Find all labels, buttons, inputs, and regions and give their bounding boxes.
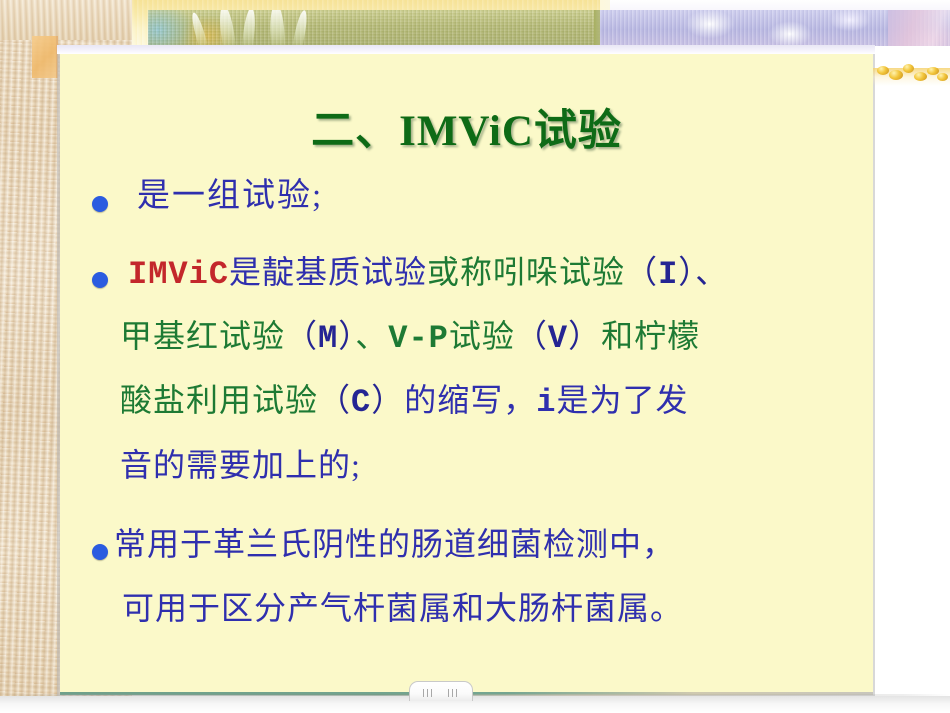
bullet-marker-2: [92, 272, 108, 288]
gold-flower-ornament: [873, 52, 950, 86]
bottom-tab-ornament: [409, 681, 473, 701]
gold-petal: [877, 66, 889, 75]
panel-top-strip: [57, 45, 875, 54]
b2-l1-run-2: 是靛基质试验: [229, 254, 427, 290]
leaf-blade-icon: [269, 10, 285, 46]
b2-l2-run-10: ）: [568, 318, 601, 354]
b2-l2-run-9: V: [548, 320, 568, 357]
bullet-3-line-1: 常用于革兰氏阴性的肠道细菌检测中，: [114, 528, 675, 560]
tick-mark: [456, 689, 457, 697]
page-title: 二、IMViC试验: [60, 96, 873, 158]
b2-l3-run-1: 酸盐利用试验: [120, 382, 318, 418]
tab-ticks-left: [423, 689, 432, 697]
bullet-marker-1: [92, 196, 108, 212]
tick-mark: [423, 689, 424, 697]
gold-petal: [903, 64, 914, 73]
bullet-2-line-1: IMViC是靛基质试验或称吲哚试验（I）、: [128, 256, 728, 291]
gold-petal: [914, 72, 927, 81]
b2-l3-run-6: i: [536, 384, 556, 421]
b2-l1-run-3: 或称吲哚试验: [427, 254, 625, 290]
tick-mark: [431, 689, 432, 697]
b2-l2-run-7: 试验: [449, 318, 515, 354]
bullet-1-run-1: 是一组试验;: [137, 178, 323, 214]
b2-l3-run-4: ）: [371, 382, 404, 418]
leaf-blade-icon: [242, 10, 257, 46]
b2-l2-run-6: V-P: [388, 320, 449, 357]
b2-l2-run-8: （: [515, 318, 548, 354]
bullet-3-line-2: 可用于区分产气杆菌属和大肠杆菌属。: [122, 592, 683, 624]
bullet-marker-3: [92, 544, 108, 560]
tick-mark: [452, 689, 453, 697]
gold-petal: [937, 73, 948, 81]
tab-ticks-right: [448, 689, 457, 697]
leaf-blade-icon: [189, 11, 207, 46]
floral-banner-tail: [888, 10, 950, 46]
b2-l3-run-3: C: [351, 384, 371, 421]
b2-l3-run-7: 是为了发: [556, 382, 688, 418]
bullet-2-line-2: 甲基红试验（M）、V-P试验（V）和柠檬: [120, 320, 700, 355]
leaf-blade-icon: [293, 10, 310, 46]
leaf-blade-icon: [217, 10, 235, 46]
b2-l2-run-3: M: [318, 320, 338, 357]
bullet-text-1: 是一组试验;: [137, 180, 323, 213]
b2-l2-run-11: 和柠檬: [601, 318, 700, 354]
paper-texture-left-top: [0, 0, 132, 40]
presentation-slide: 二、IMViC试验 是一组试验; IMViC是靛基质试验或称吲哚试验（I）、 甲…: [0, 0, 950, 713]
b2-l1-run-6: ）、: [678, 254, 728, 290]
tick-mark: [427, 689, 428, 697]
b3-l1-run-1: 常用于革兰氏阴性的肠道细菌检测中，: [114, 526, 675, 562]
decorative-image-band: [148, 10, 950, 46]
gold-petal: [889, 70, 903, 80]
b2-l1-run-5: I: [658, 256, 678, 293]
b2-l1-run-imvic: IMViC: [128, 256, 229, 293]
b2-l2-run-1: 甲基红试验: [120, 318, 285, 354]
b2-l4-run-1: 音的需要加上的;: [120, 447, 361, 483]
b3-l2-run-1: 可用于区分产气杆菌属和大肠杆菌属。: [122, 590, 683, 626]
b2-l2-run-4: ）: [338, 318, 355, 354]
b2-l1-run-4: （: [625, 254, 658, 290]
tick-mark: [448, 689, 449, 697]
b2-l3-run-2: （: [318, 382, 351, 418]
bullet-2-line-3: 酸盐利用试验（C）的缩写，i是为了发: [120, 384, 688, 419]
slide-bottom-area: [0, 696, 950, 713]
b2-l2-run-2: （: [285, 318, 318, 354]
accent-square: [32, 36, 56, 78]
bullet-2-line-4: 音的需要加上的;: [120, 449, 361, 481]
leaf-banner: [148, 10, 600, 46]
b2-l3-run-5: 的缩写，: [404, 382, 536, 418]
b2-l2-run-5: 、: [355, 318, 388, 354]
